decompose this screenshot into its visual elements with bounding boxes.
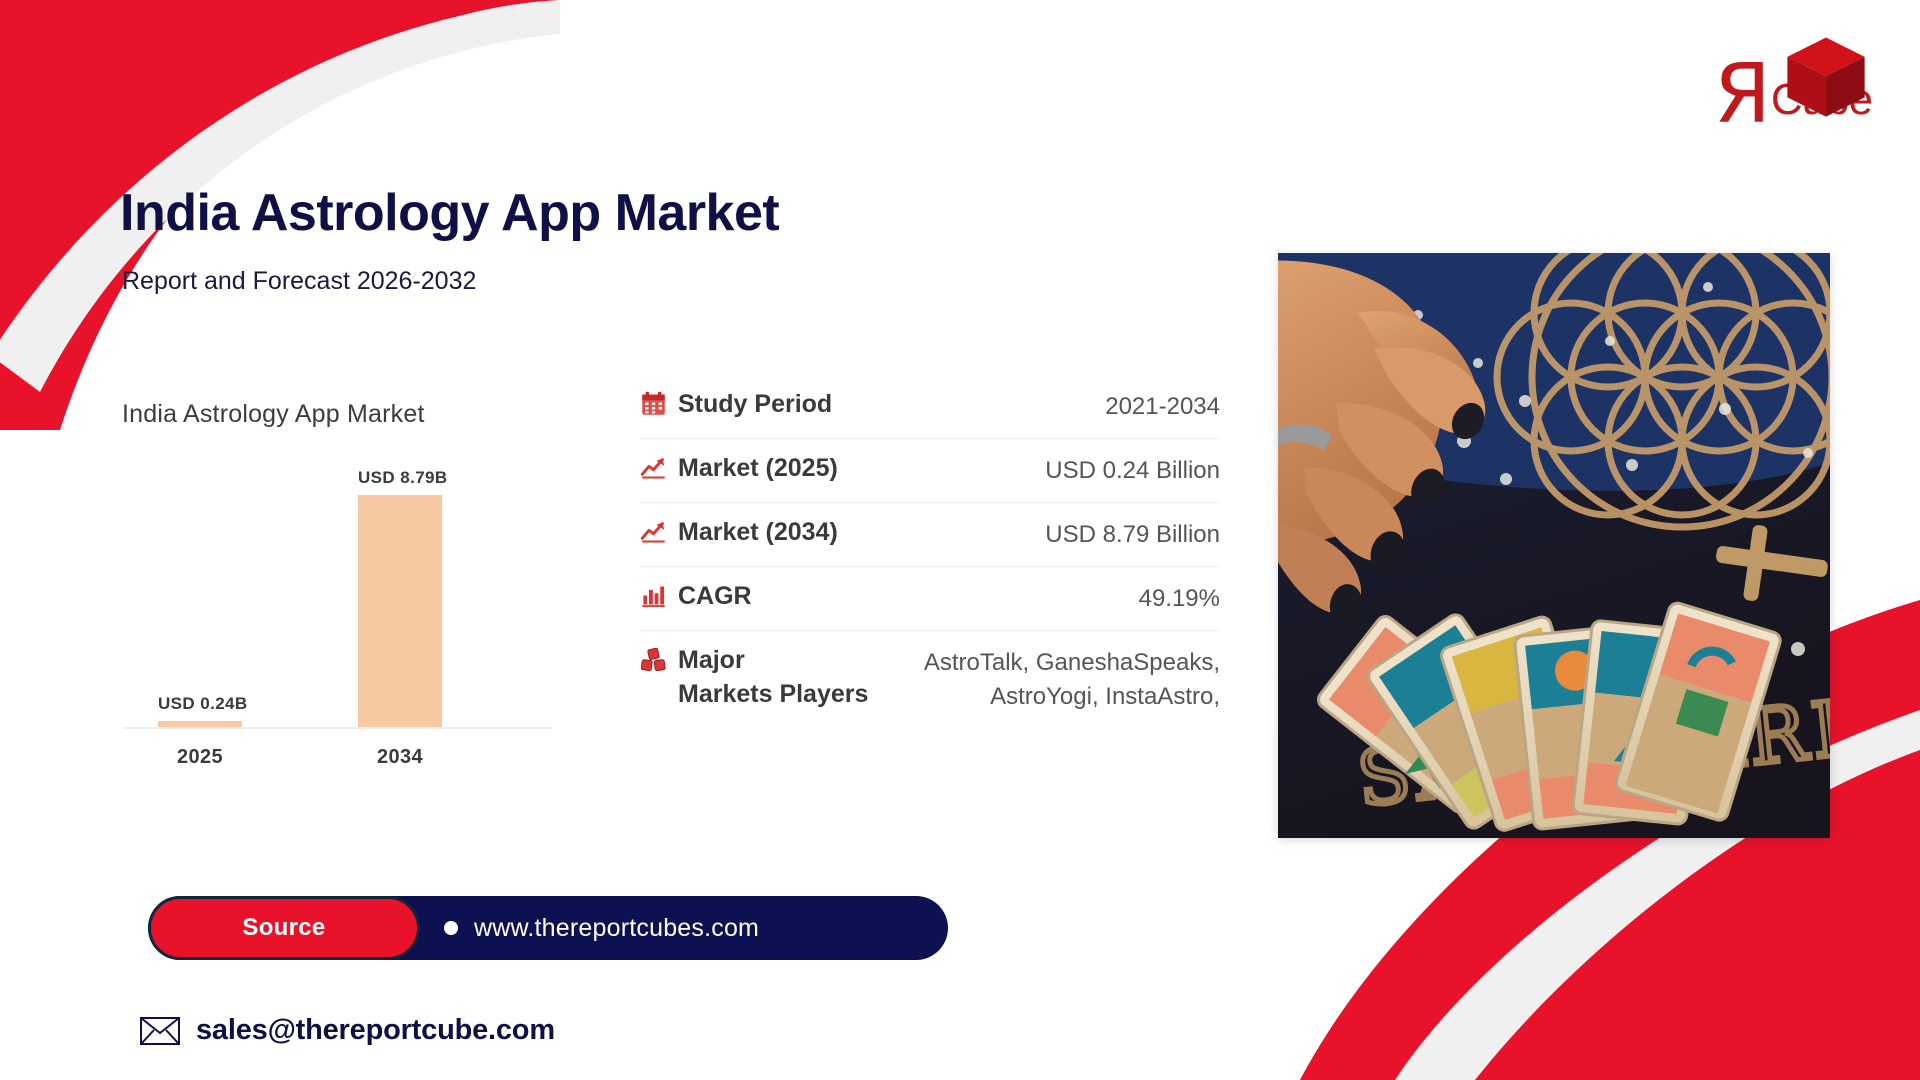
source-label-pill: Source (148, 896, 420, 960)
source-url[interactable]: www.thereportcubes.com (474, 914, 759, 943)
fact-label: Market (2034) (678, 516, 838, 550)
bar-value-2034: USD 8.79B (358, 468, 442, 488)
envelope-icon (140, 1017, 180, 1045)
chart-x-axis (122, 727, 552, 729)
fact-label: CAGR (678, 580, 752, 614)
table-row: Study Period 2021-2034 (640, 375, 1220, 439)
bar-chart-icon (640, 582, 667, 609)
bar-group-2034: USD 8.79B (358, 468, 442, 727)
fact-value: 49.19% (1139, 580, 1220, 616)
fact-label: Study Period (678, 388, 832, 422)
chart-plot-area: USD 0.24B USD 8.79B 2025 2034 (122, 467, 552, 777)
table-row: Major Markets Players AstroTalk, Ganesha… (640, 631, 1220, 728)
bar-category-2034: 2034 (358, 746, 442, 769)
table-row: Market (2025) USD 0.24 Billion (640, 439, 1220, 503)
table-row: Market (2034) USD 8.79 Billion (640, 503, 1220, 567)
page-title: India Astrology App Market (120, 183, 779, 243)
logo-mark-r: Я (1714, 61, 1769, 128)
key-facts-table: Study Period 2021-2034 Market (2025) USD… (640, 375, 1220, 728)
page-subtitle: Report and Forecast 2026-2032 (122, 267, 476, 296)
fact-label: Market (2025) (678, 452, 838, 486)
chart-title: India Astrology App Market (122, 400, 552, 429)
bar-value-2025: USD 0.24B (158, 694, 242, 714)
bar-group-2025: USD 0.24B (158, 694, 242, 727)
bar-2025 (158, 721, 242, 727)
source-bar: Source www.thereportcubes.com (148, 896, 948, 960)
fact-label: Major Markets Players (678, 644, 868, 712)
brand-logo: Я Cube (1714, 38, 1872, 128)
fact-value: USD 0.24 Billion (1045, 452, 1220, 488)
calendar-icon (640, 390, 667, 417)
contact-email-row: sales@thereportcube.com (140, 1014, 555, 1047)
bar-category-2025: 2025 (158, 746, 242, 769)
market-bar-chart: India Astrology App Market USD 0.24B USD… (122, 400, 552, 820)
bar-2034 (358, 495, 442, 727)
blocks-icon (640, 646, 667, 673)
cube-icon (1780, 32, 1872, 124)
fact-value: 2021-2034 (1105, 388, 1220, 424)
bullet-dot-icon (444, 921, 458, 935)
chart-increase-icon (640, 454, 667, 481)
table-row: CAGR 49.19% (640, 567, 1220, 631)
fact-value: USD 8.79 Billion (1045, 516, 1220, 552)
fact-value: AstroTalk, GaneshaSpeaks, AstroYogi, Ins… (910, 644, 1220, 714)
tarot-cards-photo: SAGITTARIUS (1278, 253, 1830, 838)
chart-increase-icon (640, 518, 667, 545)
contact-email[interactable]: sales@thereportcube.com (196, 1014, 555, 1047)
